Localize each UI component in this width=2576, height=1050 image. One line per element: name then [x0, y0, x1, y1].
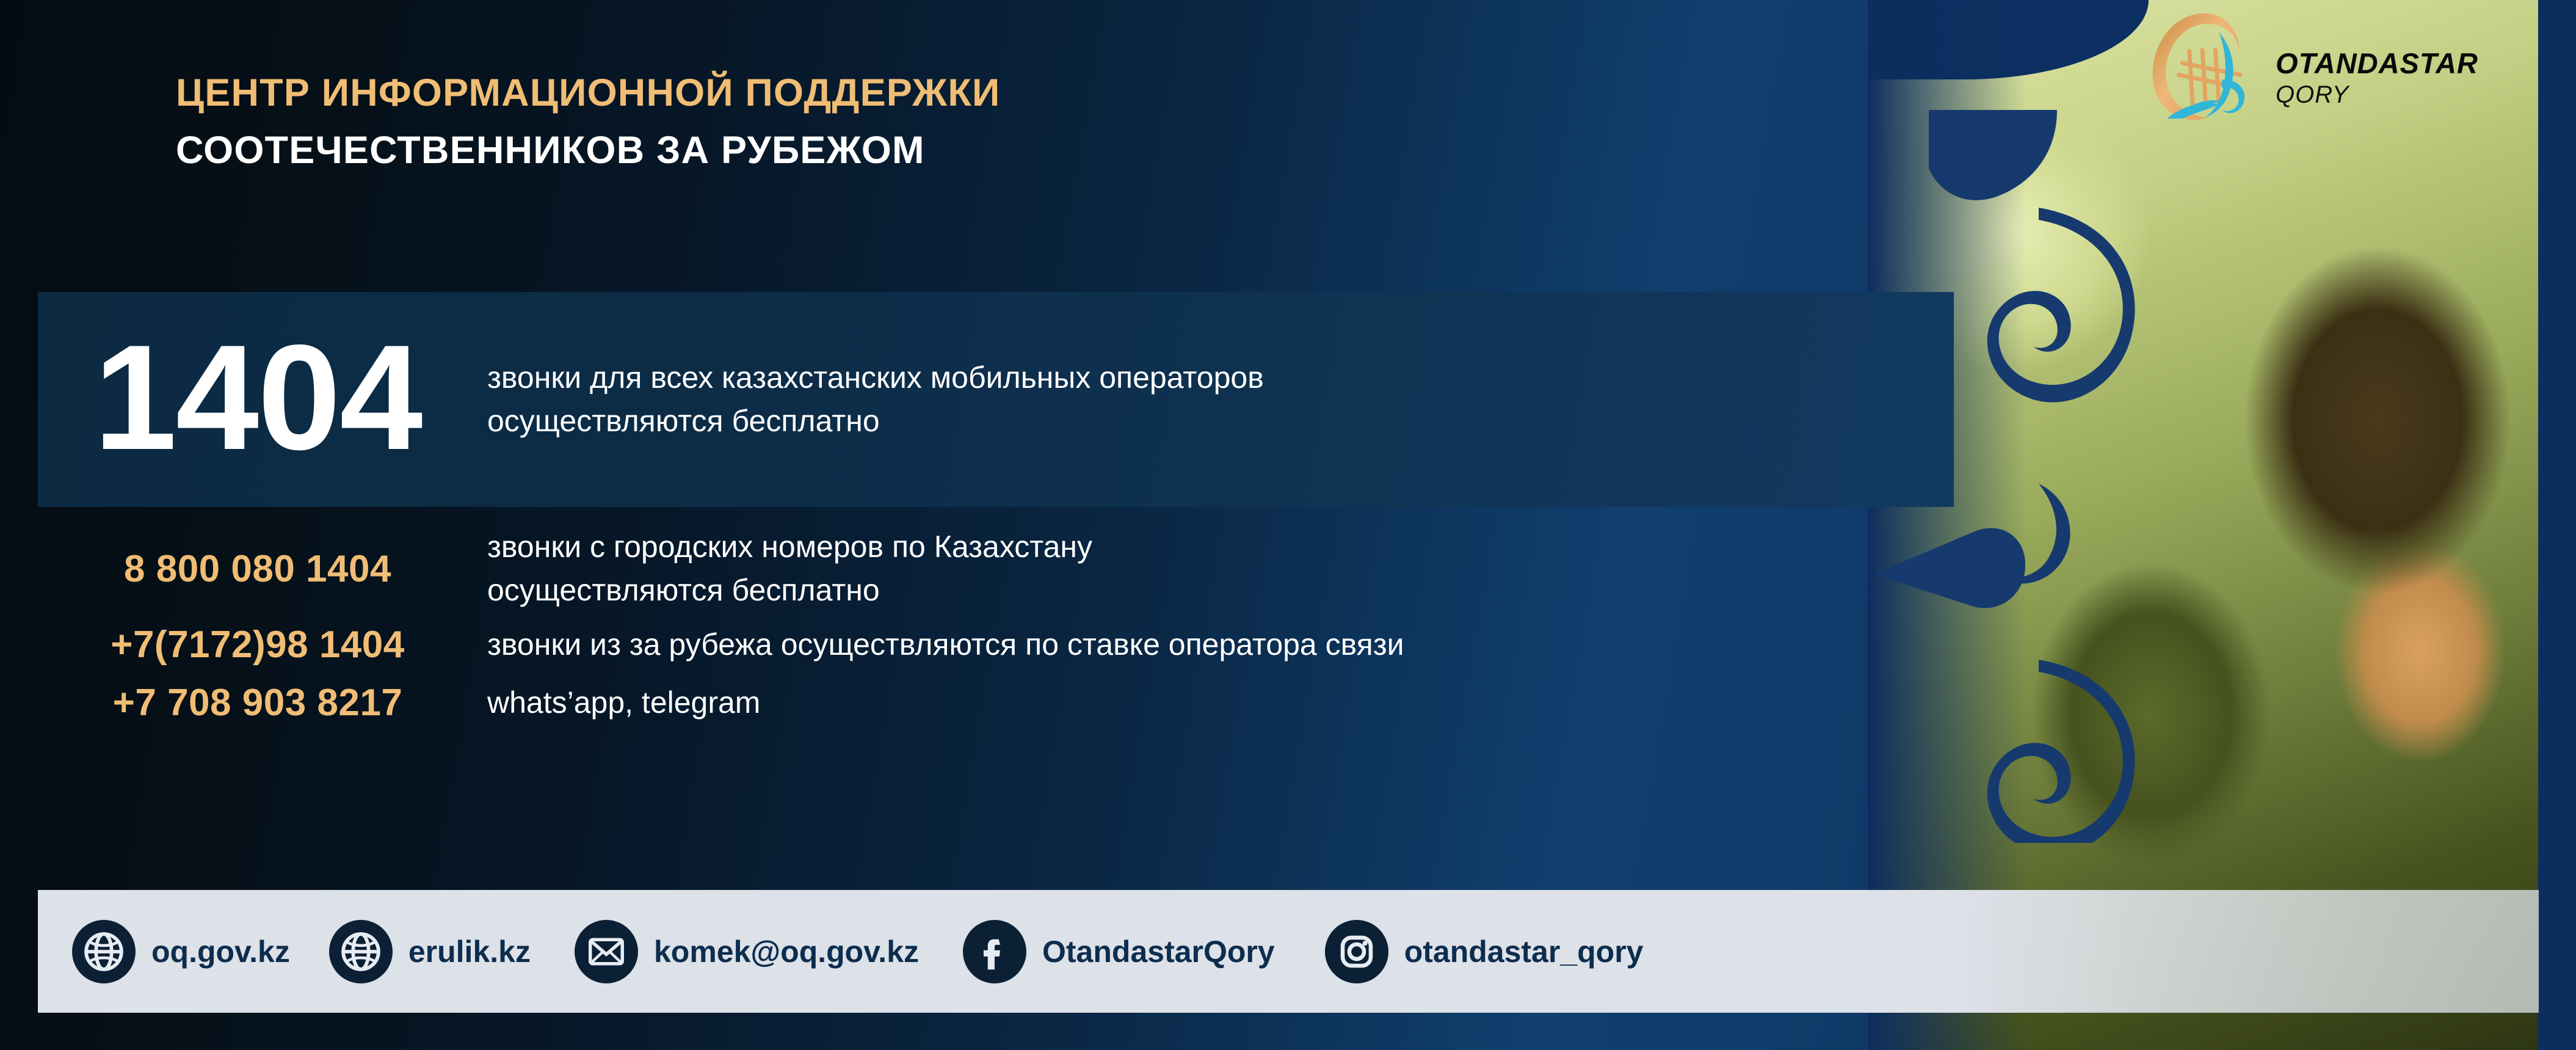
phone-desc-line-2: осуществляются бесплатно — [487, 569, 1092, 612]
phone-description: звонки из за рубежа осуществляются по ст… — [487, 623, 1404, 666]
phone-number[interactable]: 8 800 080 1404 — [38, 547, 477, 591]
globe-icon — [72, 920, 136, 983]
footer-label: komek@oq.gov.kz — [654, 934, 919, 969]
footer-item-website-oq[interactable]: oq.gov.kz — [72, 920, 290, 983]
instagram-icon — [1325, 920, 1388, 983]
phone-number[interactable]: +7(7172)98 1404 — [38, 623, 477, 666]
footer-label: OtandastarQory — [1042, 934, 1275, 969]
logo-mark-icon — [2145, 9, 2265, 125]
photo-right-edge — [2538, 0, 2576, 1050]
headline-line-1: ЦЕНТР ИНФОРМАЦИОННОЙ ПОДДЕРЖКИ — [176, 72, 1000, 114]
phone-desc-line-1: звонки из за рубежа осуществляются по ст… — [487, 623, 1404, 666]
footer-item-website-erulik[interactable]: erulik.kz — [329, 920, 531, 983]
phone-row: 8 800 080 1404 звонки с городских номеро… — [38, 525, 1992, 612]
otandastar-qory-logo: OTANDASTAR QORY — [2145, 9, 2478, 125]
footer-item-email[interactable]: komek@oq.gov.kz — [575, 920, 919, 983]
footer-contact-bar: oq.gov.kz erulik.kz — [38, 890, 2539, 1013]
hotline-row: 1404 звонки для всех казахстанских мобил… — [38, 292, 1954, 507]
phone-desc-line-1: звонки с городских номеров по Казахстану — [487, 525, 1092, 569]
phone-description: звонки с городских номеров по Казахстану… — [487, 525, 1092, 612]
logo-name: OTANDASTAR — [2276, 49, 2478, 78]
headline: ЦЕНТР ИНФОРМАЦИОННОЙ ПОДДЕРЖКИ СООТЕЧЕСТ… — [176, 72, 1000, 171]
hotline-number[interactable]: 1404 — [38, 323, 477, 472]
phone-number[interactable]: +7 708 903 8217 — [38, 681, 477, 724]
hotline-description: звонки для всех казахстанских мобильных … — [487, 356, 1264, 443]
footer-label: oq.gov.kz — [151, 934, 290, 969]
phone-row: +7 708 903 8217 whats’app, telegram — [38, 681, 1992, 724]
hotline-desc-line-2: осуществляются бесплатно — [487, 399, 1264, 443]
envelope-icon — [575, 920, 638, 983]
logo-subtitle: QORY — [2276, 82, 2478, 107]
facebook-icon — [963, 920, 1026, 983]
footer-item-instagram[interactable]: otandastar_qory — [1325, 920, 1644, 983]
hotline-desc-line-1: звонки для всех казахстанских мобильных … — [487, 356, 1264, 399]
phone-rows: 8 800 080 1404 звонки с городских номеро… — [38, 525, 1992, 740]
phone-description: whats’app, telegram — [487, 681, 760, 724]
phone-row: +7(7172)98 1404 звонки из за рубежа осущ… — [38, 623, 1992, 666]
globe-icon — [329, 920, 393, 983]
banner-root: OTANDASTAR QORY ЦЕНТР ИНФОРМАЦИОННОЙ ПОД… — [0, 0, 2576, 1050]
headline-line-2: СООТЕЧЕСТВЕННИКОВ ЗА РУБЕЖОМ — [176, 129, 1000, 171]
phone-desc-line-1: whats’app, telegram — [487, 681, 760, 724]
footer-item-facebook[interactable]: OtandastarQory — [963, 920, 1275, 983]
footer-label: erulik.kz — [408, 934, 531, 969]
logo-wordmark: OTANDASTAR QORY — [2276, 27, 2478, 107]
footer-label: otandastar_qory — [1404, 934, 1644, 969]
